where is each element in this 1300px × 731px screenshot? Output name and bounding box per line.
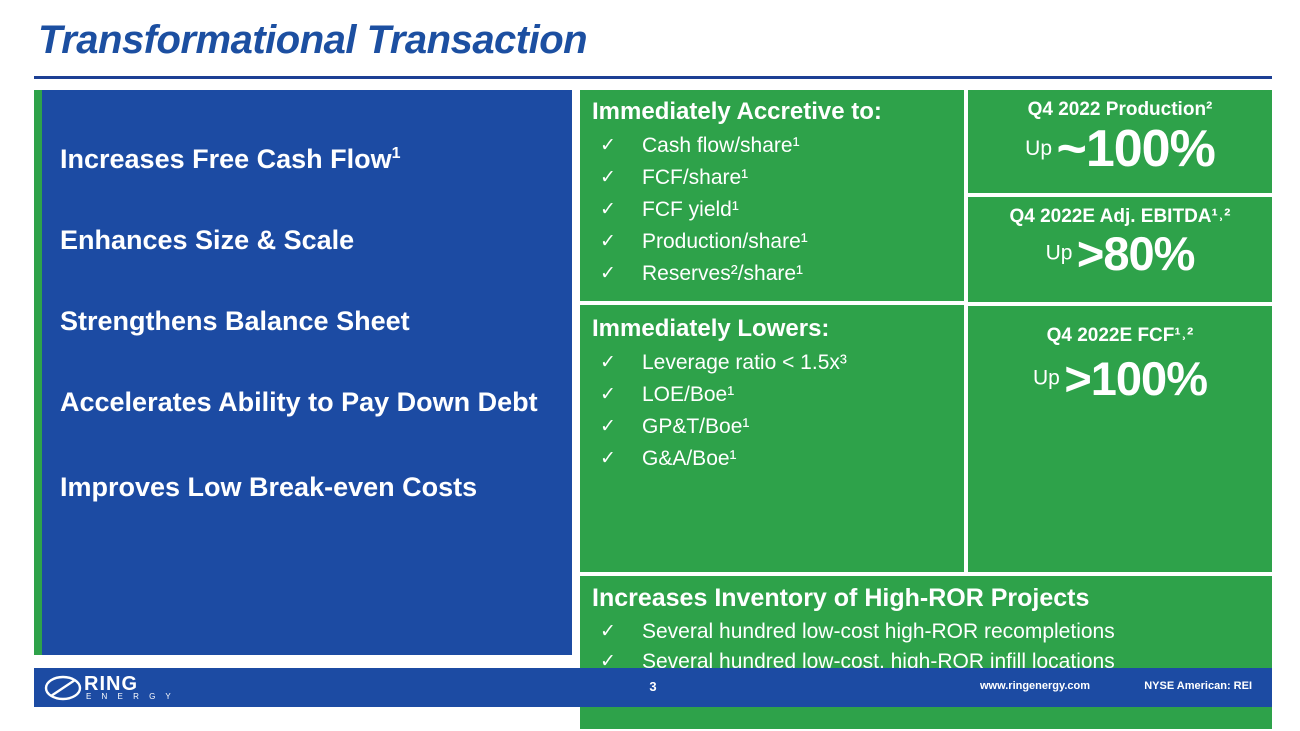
list-item-label: Cash flow/share¹ [642,134,800,157]
lowers-heading: Immediately Lowers: [592,315,954,343]
stat-value-row: Up ~100% [968,119,1272,179]
benefits-list: Increases Free Cash Flow1 Enhances Size … [60,134,556,549]
check-icon: ✓ [600,130,616,162]
accretive-heading: Immediately Accretive to: [592,98,954,126]
check-icon: ✓ [600,379,616,411]
check-icon: ✓ [600,162,616,194]
list-item: ✓Production/share¹ [592,226,954,258]
list-item: ✓LOE/Boe¹ [592,379,954,411]
stat-value: >80% [1077,227,1195,280]
list-item: Enhances Size & Scale [60,221,556,260]
lowers-card: Immediately Lowers: ✓Leverage ratio < 1.… [580,305,964,572]
benefit-text: Enhances Size & Scale [60,225,354,255]
title-divider [34,76,1272,79]
list-item-label: Production/share¹ [642,230,808,253]
benefit-footnote: 1 [392,145,401,162]
stat-card-production: Q4 2022 Production² Up ~100% [968,90,1272,193]
stat-label: Q4 2022E FCF¹˒² [968,325,1272,347]
left-accent-bar [34,90,42,655]
accretive-card: Immediately Accretive to: ✓Cash flow/sha… [580,90,964,301]
check-icon: ✓ [600,411,616,443]
list-item-label: Reserves²/share¹ [642,262,803,285]
list-item: ✓Reserves²/share¹ [592,258,954,290]
check-icon: ✓ [600,226,616,258]
list-item: ✓Cash flow/share¹ [592,130,954,162]
stat-prefix: Up [1025,137,1052,160]
list-item-label: Leverage ratio < 1.5x³ [642,351,847,374]
list-item-label: FCF yield¹ [642,198,739,221]
list-item-label: GP&T/Boe¹ [642,415,749,438]
benefit-text: Increases Free Cash Flow [60,144,392,174]
stat-value-row: Up >80% [968,226,1272,281]
benefit-text: Accelerates Ability to Pay Down Debt [60,387,538,417]
check-icon: ✓ [600,258,616,290]
list-item: Improves Low Break-even Costs [60,468,556,507]
check-icon: ✓ [600,443,616,475]
list-item: Strengthens Balance Sheet [60,302,556,341]
check-icon: ✓ [600,617,616,647]
accretive-list: ✓Cash flow/share¹ ✓FCF/share¹ ✓FCF yield… [592,130,954,290]
stat-label: Q4 2022E Adj. EBITDA¹˒² [968,206,1272,228]
list-item: ✓FCF/share¹ [592,162,954,194]
stat-card-ebitda: Q4 2022E Adj. EBITDA¹˒² Up >80% [968,197,1272,302]
list-item-label: G&A/Boe¹ [642,447,737,470]
list-item: ✓Several hundred low-cost high-ROR recom… [592,617,1262,647]
list-item-label: Several hundred low-cost high-ROR recomp… [642,620,1115,643]
list-item: ✓GP&T/Boe¹ [592,411,954,443]
lowers-list: ✓Leverage ratio < 1.5x³ ✓LOE/Boe¹ ✓GP&T/… [592,347,954,475]
benefit-text: Improves Low Break-even Costs [60,472,477,502]
list-item-label: FCF/share¹ [642,166,748,189]
list-item: Accelerates Ability to Pay Down Debt [60,383,556,422]
stat-value-row: Up >100% [968,351,1272,406]
list-item: Increases Free Cash Flow1 [60,134,556,179]
stat-value: >100% [1064,352,1207,405]
list-item: ✓Leverage ratio < 1.5x³ [592,347,954,379]
list-item: ✓FCF yield¹ [592,194,954,226]
inventory-heading: Increases Inventory of High-ROR Projects [592,584,1262,613]
benefit-text: Strengthens Balance Sheet [60,306,410,336]
content-board: Increases Free Cash Flow1 Enhances Size … [34,90,1272,655]
ticker-label: NYSE American: REI [1144,680,1252,692]
stat-label: Q4 2022 Production² [968,99,1272,121]
benefits-panel: Increases Free Cash Flow1 Enhances Size … [42,90,572,655]
stat-prefix: Up [1046,242,1073,265]
slide-footer: RING E N E R G Y 3 www.ringenergy.com NY… [34,668,1272,707]
stat-card-fcf: Q4 2022E FCF¹˒² Up >100% [968,306,1272,572]
stat-prefix: Up [1033,367,1060,390]
check-icon: ✓ [600,194,616,226]
check-icon: ✓ [600,347,616,379]
list-item: ✓G&A/Boe¹ [592,443,954,475]
list-item-label: LOE/Boe¹ [642,383,734,406]
page-title: Transformational Transaction [38,18,587,63]
website-url: www.ringenergy.com [980,680,1090,692]
stat-value: ~100% [1056,120,1214,178]
